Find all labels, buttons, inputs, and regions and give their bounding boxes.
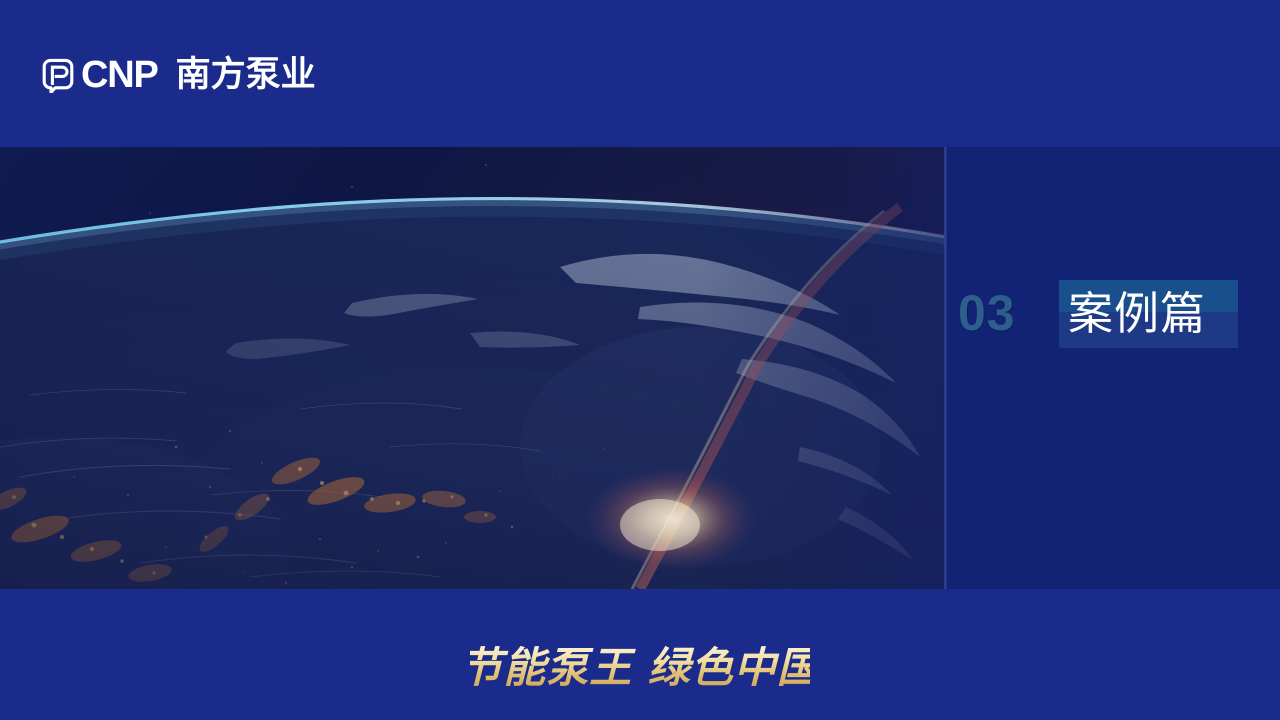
logo-latin-text: CNP (81, 56, 158, 94)
slide-root: CNP 南方泵业 03 案例篇 节能泵王 绿色中国 (0, 0, 1280, 720)
footer-slogan-calligraphy: 节能泵王 绿色中国 (470, 632, 810, 702)
section-title: 案例篇 (1068, 285, 1243, 343)
company-logo[interactable]: CNP 南方泵业 (40, 52, 316, 98)
footer-slogan: 节能泵王 绿色中国 (0, 632, 1280, 707)
section-panel (947, 147, 1280, 589)
svg-text:节能泵王 绿色中国: 节能泵王 绿色中国 (470, 643, 810, 692)
section-number: 03 (958, 288, 1016, 338)
cnp-pump-mark-icon (40, 57, 76, 93)
earth-photo (0, 147, 945, 589)
logo-chinese-text: 南方泵业 (176, 58, 316, 93)
header-band: CNP 南方泵业 (0, 0, 1280, 147)
panel-divider (944, 147, 947, 589)
